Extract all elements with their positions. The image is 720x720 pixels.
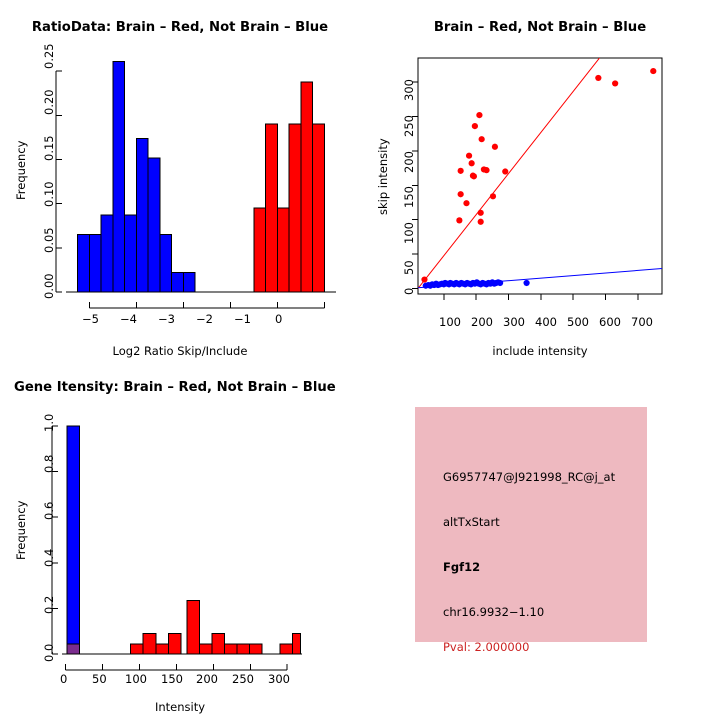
ratio-bar-0-7 [160,235,172,292]
gene-bar-blue-0 [67,426,80,654]
event-type-text: altTxStart [443,515,500,529]
scatter-point-0-3 [458,168,464,174]
gene-bar-red-8 [224,644,237,654]
scatter-point-0-8 [471,173,477,179]
ratio-bar-0-8 [172,273,184,292]
gene-symbol-text: Fgf12 [443,560,480,574]
scatter-point-1-40 [523,280,529,286]
scatter-point-0-11 [478,219,484,225]
intensity-scatter-panel: Brain – Red, Not Brain – Blue skip inten… [360,0,720,360]
gene-bar-red-2 [143,633,156,654]
scatter-point-1-39 [497,280,503,286]
gene-bar-red-5 [187,601,200,654]
gene-histogram-plot-area [0,360,360,720]
gene-bar-red-9 [237,644,250,654]
locus-text: chr16.9932−1.10 [443,605,544,619]
scatter-point-0-6 [469,160,475,166]
gene-bar-red-3 [156,644,169,654]
scatter-point-0-9 [472,123,478,129]
ratio-bar-0-1 [89,235,101,292]
ratio-bar-1-1 [266,124,278,292]
scatter-point-0-20 [612,80,618,86]
scatter-point-0-5 [466,153,472,159]
scatter-fit-line-0 [418,55,602,289]
scatter-point-0-18 [502,168,508,174]
ratio-bar-0-0 [78,235,90,292]
gene-bar-red-10 [250,644,263,654]
scatter-point-0-0 [421,276,427,282]
scatter-point-0-4 [463,200,469,206]
gene-bar-red-0 [67,644,80,654]
scatter-point-0-13 [479,136,485,142]
annotation-panel: G6957747@J921998_RC@j_at altTxStart Fgf1… [360,360,720,720]
ratio-bar-0-9 [183,273,195,292]
ratio-histogram-plot-area [0,0,360,360]
ratio-bar-0-3 [113,62,125,292]
pval-text: Pval: 2.000000 [443,640,529,654]
gene-bar-red-1 [131,644,144,654]
scatter-point-0-16 [490,193,496,199]
ratio-bar-0-2 [101,215,113,292]
gene-intensity-panel: Gene Itensity: Brain – Red, Not Brain – … [0,360,360,720]
scatter-point-0-10 [476,112,482,118]
ratio-bar-0-6 [148,158,160,292]
ratio-histogram-panel: RatioData: Brain – Red, Not Brain – Blue… [0,0,360,360]
figure-canvas: RatioData: Brain – Red, Not Brain – Blue… [0,0,720,720]
gene-bar-red-12 [292,633,300,654]
gene-bar-red-4 [168,633,181,654]
ratio-bar-0-4 [125,215,137,292]
ratio-bar-1-3 [289,124,301,292]
ratio-bar-1-2 [277,208,289,292]
scatter-point-0-17 [492,144,498,150]
probe-id-text: G6957747@J921998_RC@j_at [443,470,615,484]
annotation-box: G6957747@J921998_RC@j_at altTxStart Fgf1… [415,407,647,642]
scatter-point-0-21 [650,68,656,74]
ratio-bar-1-5 [313,124,325,292]
scatter-plot-area [360,0,720,360]
ratio-bar-1-4 [301,82,313,292]
ratio-bar-0-5 [136,138,148,292]
scatter-point-0-15 [483,167,489,173]
scatter-point-0-19 [595,75,601,81]
scatter-point-0-12 [478,210,484,216]
scatter-frame [418,58,662,294]
scatter-point-0-1 [456,217,462,223]
gene-bar-red-6 [199,644,212,654]
gene-bar-red-7 [212,633,225,654]
gene-bar-red-11 [280,644,293,654]
ratio-bar-1-0 [254,208,266,292]
scatter-point-0-2 [458,191,464,197]
